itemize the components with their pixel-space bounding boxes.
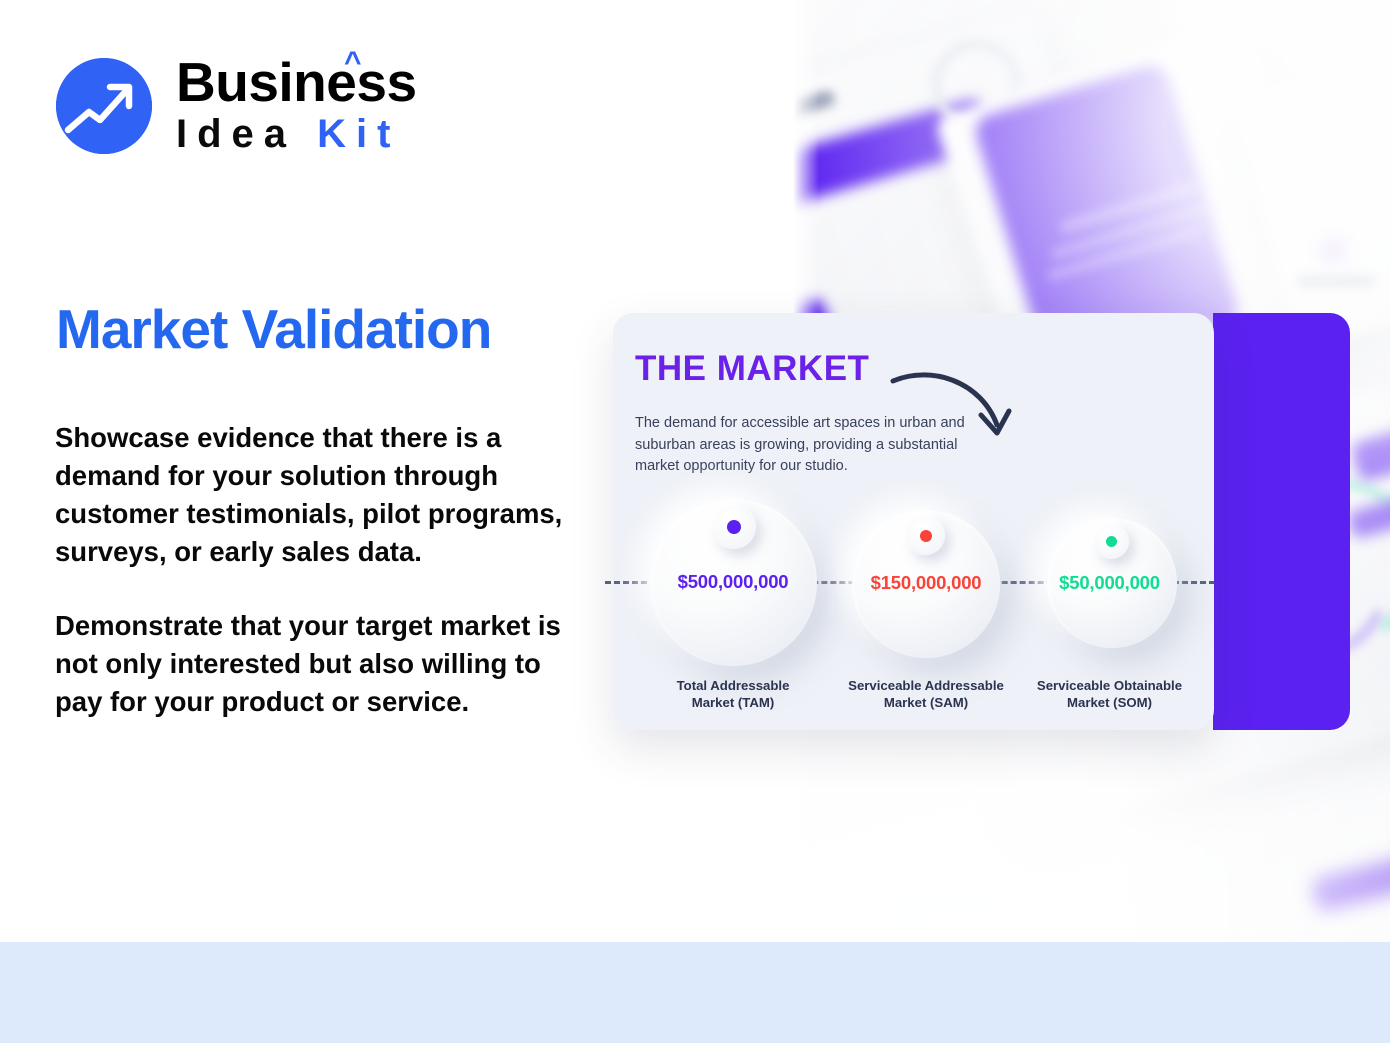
sam-value: $150,000,000: [822, 572, 1030, 594]
som-caption-line1: Serviceable Obtainable: [1037, 678, 1182, 693]
brand-wordmark: Business ^ Idea Kit: [176, 56, 417, 156]
bottom-band: [0, 942, 1390, 1043]
tam-dot-icon: [727, 520, 741, 534]
metric-tam[interactable]: $500,000,000 Total Addressable Market (T…: [632, 313, 834, 730]
som-dot-holder: [1094, 524, 1129, 559]
tam-caption: Total Addressable Market (TAM): [632, 677, 834, 711]
brand-kit-text: Kit: [317, 112, 400, 156]
sam-dot-icon: [920, 530, 932, 542]
brand-business-text: Business: [176, 51, 417, 113]
description-paragraph-1: Showcase evidence that there is a demand…: [55, 419, 570, 571]
som-caption-line2: Market (SOM): [1067, 695, 1152, 710]
circumflex-accent-icon: ^: [344, 48, 361, 78]
growth-arrow-icon: [56, 58, 152, 154]
sam-caption-line1: Serviceable Addressable: [848, 678, 1004, 693]
description-block: Showcase evidence that there is a demand…: [55, 419, 570, 721]
tam-caption-line2: Market (TAM): [692, 695, 775, 710]
metric-som[interactable]: $50,000,000 Serviceable Obtainable Marke…: [1012, 313, 1207, 730]
sam-caption: Serviceable Addressable Market (SAM): [822, 677, 1030, 711]
sam-caption-line2: Market (SAM): [884, 695, 968, 710]
brand-logo[interactable]: Business ^ Idea Kit: [56, 56, 417, 156]
sam-dot-holder: [906, 516, 945, 555]
description-paragraph-2: Demonstrate that your target market is n…: [55, 607, 570, 721]
accent-block: [1213, 313, 1350, 730]
tam-dot-holder: [712, 505, 756, 549]
tam-caption-line1: Total Addressable: [677, 678, 790, 693]
market-size-funnel: $500,000,000 Total Addressable Market (T…: [613, 313, 1214, 730]
som-value: $50,000,000: [1012, 572, 1207, 594]
brand-line-business: Business ^: [176, 56, 417, 110]
page-title: Market Validation: [56, 297, 491, 361]
tam-value: $500,000,000: [632, 571, 834, 593]
slide-canvas: Business ^ Idea Kit Market Validation Sh…: [0, 0, 1390, 1043]
som-caption: Serviceable Obtainable Market (SOM): [1012, 677, 1207, 711]
brand-idea-text: Idea: [176, 112, 296, 156]
som-dot-icon: [1106, 536, 1117, 547]
brand-line-idea-kit: Idea Kit: [176, 112, 417, 156]
metric-sam[interactable]: $150,000,000 Serviceable Addressable Mar…: [822, 313, 1030, 730]
market-slide-card[interactable]: THE MARKET The demand for accessible art…: [613, 313, 1214, 730]
